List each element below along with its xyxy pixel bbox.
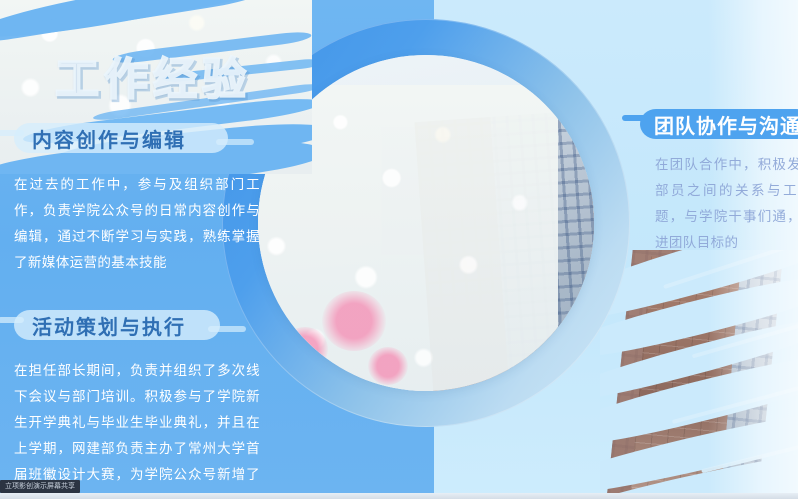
bottom-edge-bar bbox=[0, 493, 798, 499]
page-title: 工作经验 bbox=[55, 43, 251, 107]
presentation-slide: 工作经验 工作经验 内容创作与编辑 在过去的工作中，参与及组织部门工作，负责学院… bbox=[0, 0, 798, 499]
section-body-content-creation: 在过去的工作中，参与及组织部门工作，负责学院公众号的日常内容创作与编辑，通过不断… bbox=[14, 172, 260, 276]
pink-blossom-cluster bbox=[322, 291, 386, 351]
section-heading-label: 活动策划与执行 bbox=[32, 311, 186, 340]
section-heading-event-planning: 活动策划与执行 bbox=[14, 306, 186, 344]
pink-blossom-cluster bbox=[368, 347, 408, 385]
section-heading-teamwork: 团队协作与沟通 bbox=[640, 105, 798, 143]
section-body-event-planning: 在担任部长期间，负责并组织了多次线下会议与部门培训。积极参与了学院新生开学典礼与… bbox=[14, 358, 260, 499]
pink-blossom-cluster bbox=[282, 327, 328, 371]
screen-share-watermark: 立项影创演示屏幕共享 bbox=[0, 480, 80, 493]
section-heading-content-creation: 内容创作与编辑 bbox=[14, 119, 186, 157]
section-body-teamwork: 在团队合作中，积极发挥协调部员之间的关系与工分配问题，与学院干事们通，共同促进团… bbox=[655, 152, 798, 256]
right-brush-photo-group bbox=[600, 250, 798, 499]
section-heading-label: 内容创作与编辑 bbox=[32, 124, 186, 153]
section-heading-label: 团队协作与沟通 bbox=[654, 110, 798, 139]
